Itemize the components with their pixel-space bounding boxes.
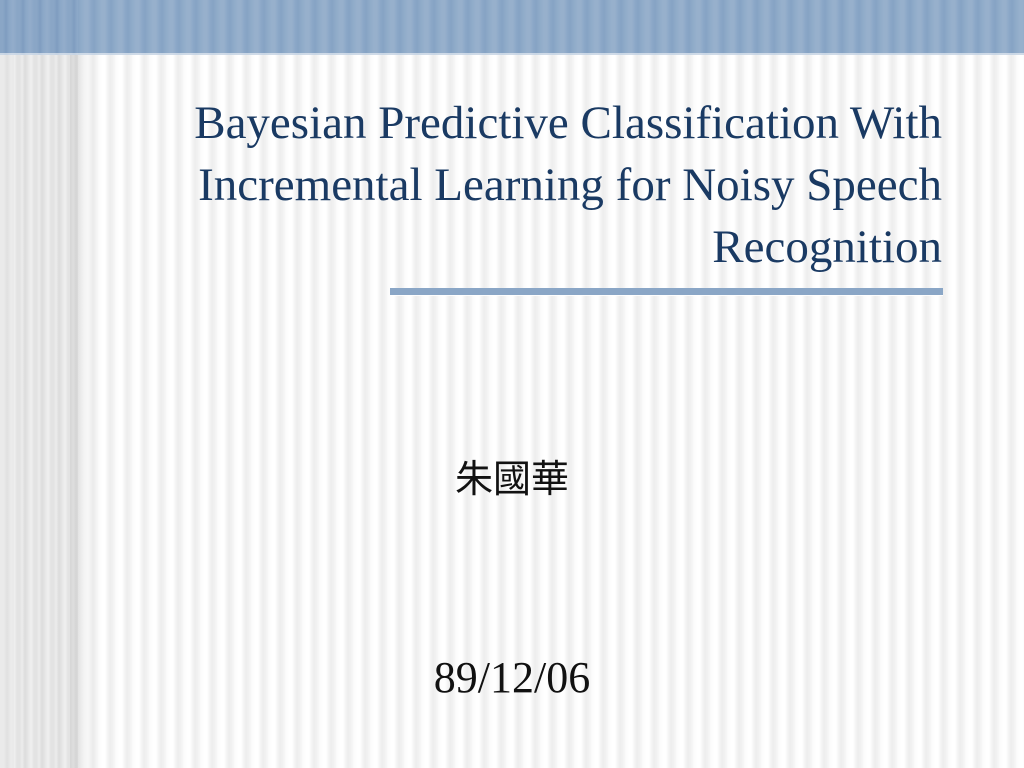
top-banner-bottom-divider	[0, 53, 1024, 55]
title-underline-rule	[390, 288, 943, 295]
author-name: 朱國華	[0, 455, 1024, 503]
slide-date: 89/12/06	[0, 652, 1024, 704]
top-banner	[0, 0, 1024, 55]
title-block: Bayesian Predictive Classification With …	[118, 92, 942, 278]
presentation-slide: Bayesian Predictive Classification With …	[0, 0, 1024, 768]
top-banner-left-band	[0, 0, 78, 55]
slide-title: Bayesian Predictive Classification With …	[118, 92, 942, 278]
